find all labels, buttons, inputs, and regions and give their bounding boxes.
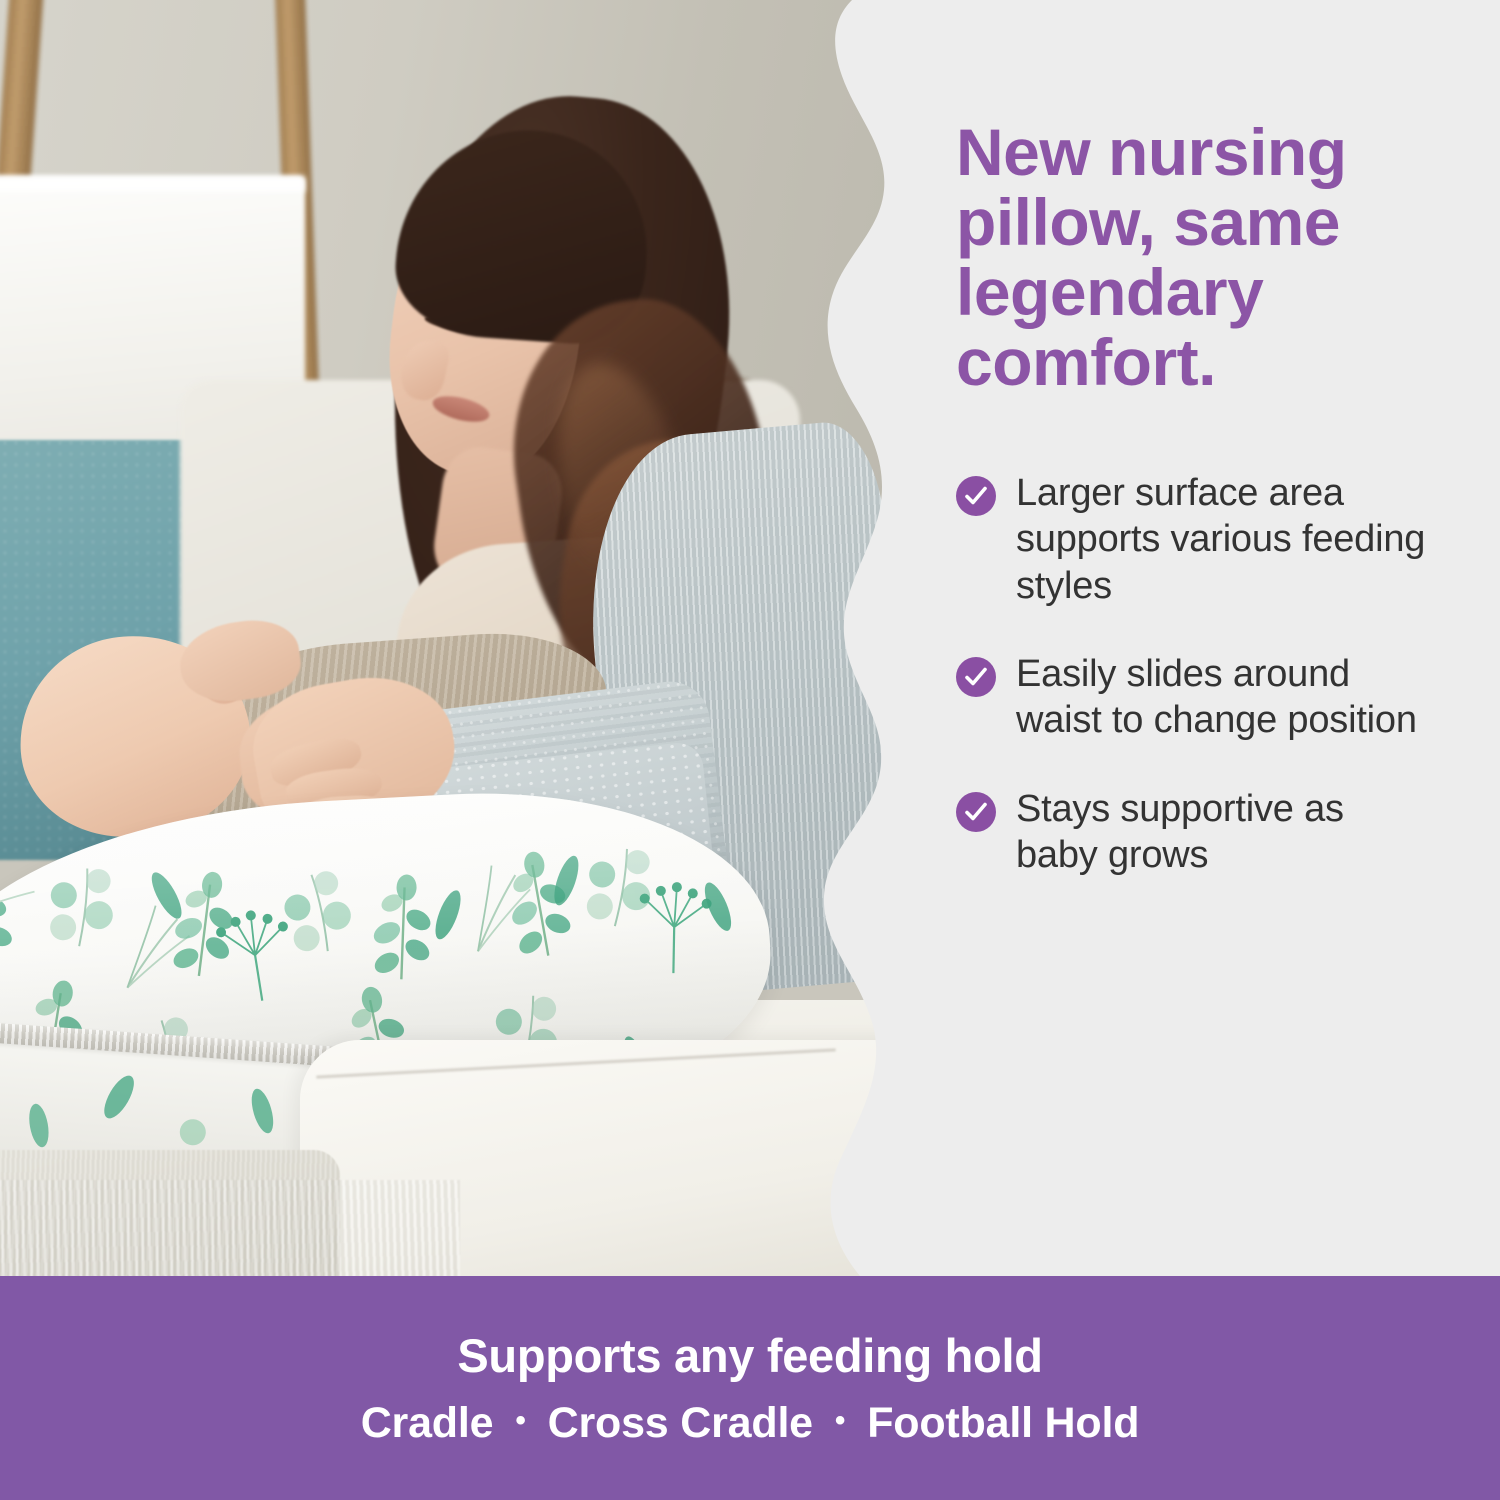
feeding-hold-cross-cradle: Cross Cradle	[548, 1399, 813, 1448]
feeding-hold-football: Football Hold	[867, 1399, 1139, 1448]
list-item-label: Stays supportive as baby grows	[1016, 786, 1426, 879]
towel-fold	[0, 176, 305, 192]
separator-dot: •	[515, 1406, 525, 1436]
sofa-fabric-texture	[0, 1180, 460, 1276]
list-item: Larger surface area supports various fee…	[956, 470, 1426, 609]
check-circle-icon	[956, 657, 996, 697]
product-infographic: New nursing pillow, same legendary comfo…	[0, 0, 1500, 1500]
list-item: Easily slides around waist to change pos…	[956, 651, 1426, 744]
lifestyle-photo	[0, 0, 900, 1276]
feature-list: Larger surface area supports various fee…	[956, 470, 1426, 879]
check-circle-icon	[956, 476, 996, 516]
banner-title: Supports any feeding hold	[457, 1328, 1042, 1383]
page-title: New nursing pillow, same legendary comfo…	[956, 118, 1426, 398]
photo-canvas	[0, 0, 900, 1276]
feeding-hold-list: Cradle • Cross Cradle • Football Hold	[361, 1399, 1140, 1448]
feeding-hold-banner: Supports any feeding hold Cradle • Cross…	[0, 1276, 1500, 1500]
list-item-label: Easily slides around waist to change pos…	[1016, 651, 1426, 744]
feeding-hold-cradle: Cradle	[361, 1399, 494, 1448]
list-item: Stays supportive as baby grows	[956, 786, 1426, 879]
separator-dot: •	[835, 1406, 845, 1436]
text-panel: New nursing pillow, same legendary comfo…	[956, 118, 1426, 878]
check-circle-icon	[956, 792, 996, 832]
list-item-label: Larger surface area supports various fee…	[1016, 470, 1426, 609]
